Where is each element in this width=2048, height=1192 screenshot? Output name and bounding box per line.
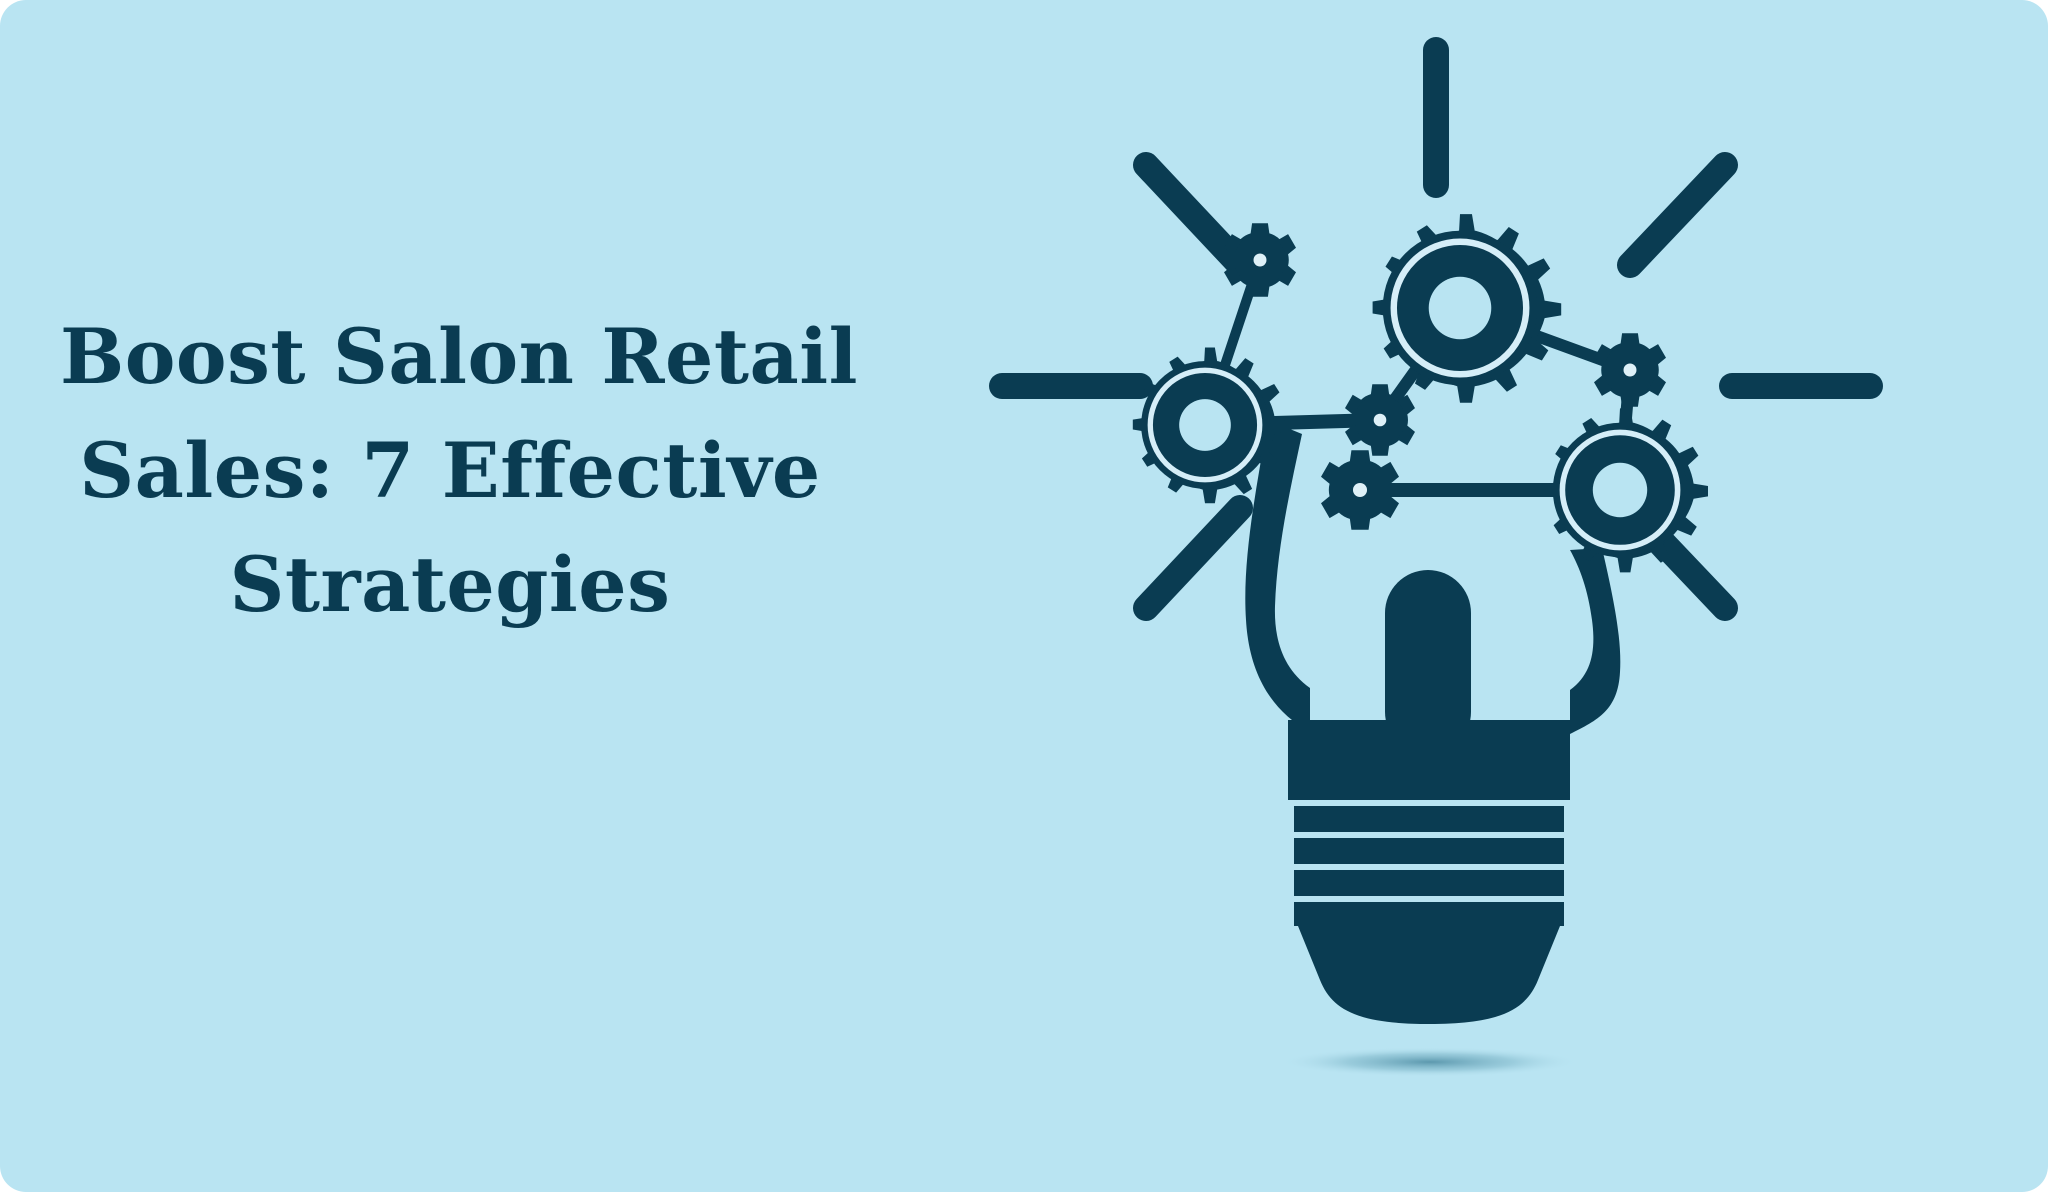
page-title: Boost Salon Retail Sales: 7 Effective St… [60, 300, 840, 642]
bulb-screw-threads [1294, 806, 1564, 926]
gear-small-bottom-left [1321, 450, 1399, 530]
bulb-base-tip [1298, 926, 1560, 1024]
ray-top-left [1146, 165, 1240, 265]
poster-canvas: Boost Salon Retail Sales: 7 Effective St… [0, 0, 2048, 1192]
title-line-2: Sales: 7 Effective [60, 414, 840, 528]
lightbulb-gears-illustration [930, 20, 2030, 1180]
gear-small-right [1594, 333, 1666, 406]
ray-bottom-left [1146, 508, 1240, 608]
gear-small-upper-left [1224, 223, 1296, 296]
title-line-3: Strategies [60, 528, 840, 642]
gear-large-top [1373, 214, 1562, 403]
title-line-1: Boost Salon Retail [60, 300, 840, 414]
ground-shadow [1280, 1047, 1580, 1077]
bulb-glass-arm-right [1570, 548, 1620, 734]
bulb-collar [1288, 720, 1570, 800]
ray-top-right [1630, 165, 1725, 265]
